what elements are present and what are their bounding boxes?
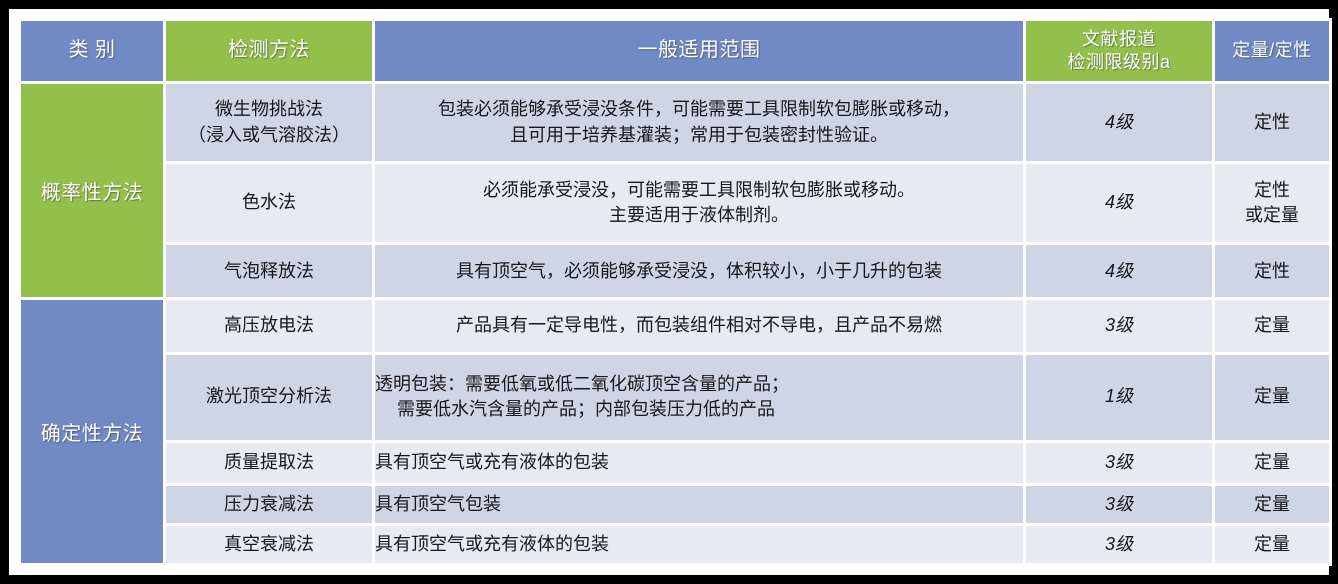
- method-line1: 色水法: [166, 190, 372, 216]
- category-cell-deterministic: 确定性方法: [21, 300, 163, 563]
- quant-qual-line2: 或定量: [1215, 203, 1329, 229]
- detection-limit-level-cell: 3级: [1026, 526, 1212, 563]
- quant-qual-cell: 定性: [1215, 84, 1329, 161]
- detection-limit-level-cell: 3级: [1026, 300, 1212, 351]
- detection-limit-level-cell: 4级: [1026, 84, 1212, 161]
- scope-line2: 且可用于培养基灌装；常用于包装密封性验证。: [375, 123, 1023, 149]
- quant-qual-line1: 定量: [1215, 384, 1329, 410]
- column-header-detection-limit-level: 文献报道 检测限级别a: [1026, 21, 1212, 81]
- detection-limit-level-cell: 4级: [1026, 245, 1212, 297]
- quant-qual-line1: 定量: [1215, 313, 1329, 339]
- method-line1: 气泡释放法: [166, 259, 372, 285]
- column-header-scope: 一般适用范围: [375, 21, 1023, 81]
- scope-line1: 必须能承受浸没，可能需要工具限制软包膨胀或移动。: [375, 178, 1023, 204]
- header-row: 类 别 检测方法 一般适用范围 文献报道 检测限级别a 定量/定性: [21, 21, 1329, 81]
- table-row: 激光顶空分析法 透明包装：需要低氧或低二氧化碳顶空含量的产品； 需要低水汽含量的…: [21, 355, 1329, 440]
- detection-limit-level-cell: 3级: [1026, 486, 1212, 523]
- method-line1: 高压放电法: [166, 313, 372, 339]
- column-header-quantitative-qualitative: 定量/定性: [1215, 21, 1329, 81]
- quant-qual-line1: 定性: [1215, 178, 1329, 204]
- column-header-method: 检测方法: [166, 21, 372, 81]
- scope-line1: 具有顶空气或充有液体的包装: [375, 450, 1023, 476]
- column-header-category: 类 别: [21, 21, 163, 81]
- scope-cell: 产品具有一定导电性，而包装组件相对不导电，且产品不易燃: [375, 300, 1023, 351]
- method-cell: 质量提取法: [166, 443, 372, 483]
- scope-line1: 具有顶空气包装: [375, 492, 1023, 518]
- scope-line2: 需要低水汽含量的产品；内部包装压力低的产品: [375, 397, 775, 423]
- table-body: 概率性方法 微生物挑战法 （浸入或气溶胶法） 包装必须能够承受浸没条件，可能需要…: [21, 84, 1329, 563]
- quant-qual-line1: 定量: [1215, 450, 1329, 476]
- scope-line1: 包装必须能够承受浸没条件，可能需要工具限制软包膨胀或移动，: [375, 97, 1023, 123]
- method-cell: 激光顶空分析法: [166, 355, 372, 440]
- table-frame: 类 别 检测方法 一般适用范围 文献报道 检测限级别a 定量/定性 概率性方法 …: [9, 9, 1329, 575]
- column-header-detection-limit-level-line1: 文献报道: [1026, 28, 1212, 51]
- detection-limit-level-cell: 4级: [1026, 164, 1212, 242]
- table-row: 压力衰减法 具有顶空气包装 3级 定量: [21, 486, 1329, 523]
- method-line1: 质量提取法: [166, 450, 372, 476]
- quant-qual-cell: 定量: [1215, 300, 1329, 351]
- scope-cell: 必须能承受浸没，可能需要工具限制软包膨胀或移动。 主要适用于液体制剂。: [375, 164, 1023, 242]
- method-cell: 压力衰减法: [166, 486, 372, 523]
- quant-qual-cell: 定性: [1215, 245, 1329, 297]
- quant-qual-cell: 定量: [1215, 526, 1329, 563]
- detection-limit-level-cell: 3级: [1026, 443, 1212, 483]
- scope-line1: 透明包装：需要低氧或低二氧化碳顶空含量的产品；: [375, 372, 1023, 398]
- method-cell: 真空衰减法: [166, 526, 372, 563]
- method-line1: 真空衰减法: [166, 532, 372, 558]
- method-line2: （浸入或气溶胶法）: [166, 123, 372, 149]
- scope-line1: 具有顶空气或充有液体的包装: [375, 532, 1023, 558]
- table-row: 气泡释放法 具有顶空气，必须能够承受浸没，体积较小，小于几升的包装 4级 定性: [21, 245, 1329, 297]
- category-cell-probabilistic: 概率性方法: [21, 84, 163, 297]
- quant-qual-line1: 定性: [1215, 259, 1329, 285]
- scope-line2: 主要适用于液体制剂。: [375, 203, 1023, 229]
- scope-line1: 具有顶空气，必须能够承受浸没，体积较小，小于几升的包装: [375, 259, 1023, 285]
- table-row: 确定性方法 高压放电法 产品具有一定导电性，而包装组件相对不导电，且产品不易燃 …: [21, 300, 1329, 351]
- table-header: 类 别 检测方法 一般适用范围 文献报道 检测限级别a 定量/定性: [21, 21, 1329, 81]
- scope-cell: 具有顶空气，必须能够承受浸没，体积较小，小于几升的包装: [375, 245, 1023, 297]
- scope-cell: 包装必须能够承受浸没条件，可能需要工具限制软包膨胀或移动， 且可用于培养基灌装；…: [375, 84, 1023, 161]
- detection-methods-table: 类 别 检测方法 一般适用范围 文献报道 检测限级别a 定量/定性 概率性方法 …: [18, 18, 1332, 566]
- scope-cell: 具有顶空气包装: [375, 486, 1023, 523]
- column-header-detection-limit-level-line2: 检测限级别a: [1026, 51, 1212, 74]
- quant-qual-cell: 定量: [1215, 486, 1329, 523]
- scope-line1: 产品具有一定导电性，而包装组件相对不导电，且产品不易燃: [375, 313, 1023, 339]
- quant-qual-line1: 定性: [1215, 110, 1329, 136]
- method-cell: 色水法: [166, 164, 372, 242]
- scope-cell: 具有顶空气或充有液体的包装: [375, 526, 1023, 563]
- quant-qual-cell: 定量: [1215, 443, 1329, 483]
- method-line1: 微生物挑战法: [166, 97, 372, 123]
- table-row: 质量提取法 具有顶空气或充有液体的包装 3级 定量: [21, 443, 1329, 483]
- method-cell: 气泡释放法: [166, 245, 372, 297]
- table-row: 色水法 必须能承受浸没，可能需要工具限制软包膨胀或移动。 主要适用于液体制剂。 …: [21, 164, 1329, 242]
- table-row: 真空衰减法 具有顶空气或充有液体的包装 3级 定量: [21, 526, 1329, 563]
- screenshot-root: 类 别 检测方法 一般适用范围 文献报道 检测限级别a 定量/定性 概率性方法 …: [0, 0, 1338, 584]
- quant-qual-cell: 定量: [1215, 355, 1329, 440]
- method-cell: 高压放电法: [166, 300, 372, 351]
- detection-limit-level-cell: 1级: [1026, 355, 1212, 440]
- scope-cell: 透明包装：需要低氧或低二氧化碳顶空含量的产品； 需要低水汽含量的产品；内部包装压…: [375, 355, 1023, 440]
- method-line1: 压力衰减法: [166, 492, 372, 518]
- scope-cell: 具有顶空气或充有液体的包装: [375, 443, 1023, 483]
- quant-qual-cell: 定性 或定量: [1215, 164, 1329, 242]
- method-line1: 激光顶空分析法: [166, 384, 372, 410]
- table-row: 概率性方法 微生物挑战法 （浸入或气溶胶法） 包装必须能够承受浸没条件，可能需要…: [21, 84, 1329, 161]
- quant-qual-line1: 定量: [1215, 532, 1329, 558]
- method-cell: 微生物挑战法 （浸入或气溶胶法）: [166, 84, 372, 161]
- quant-qual-line1: 定量: [1215, 492, 1329, 518]
